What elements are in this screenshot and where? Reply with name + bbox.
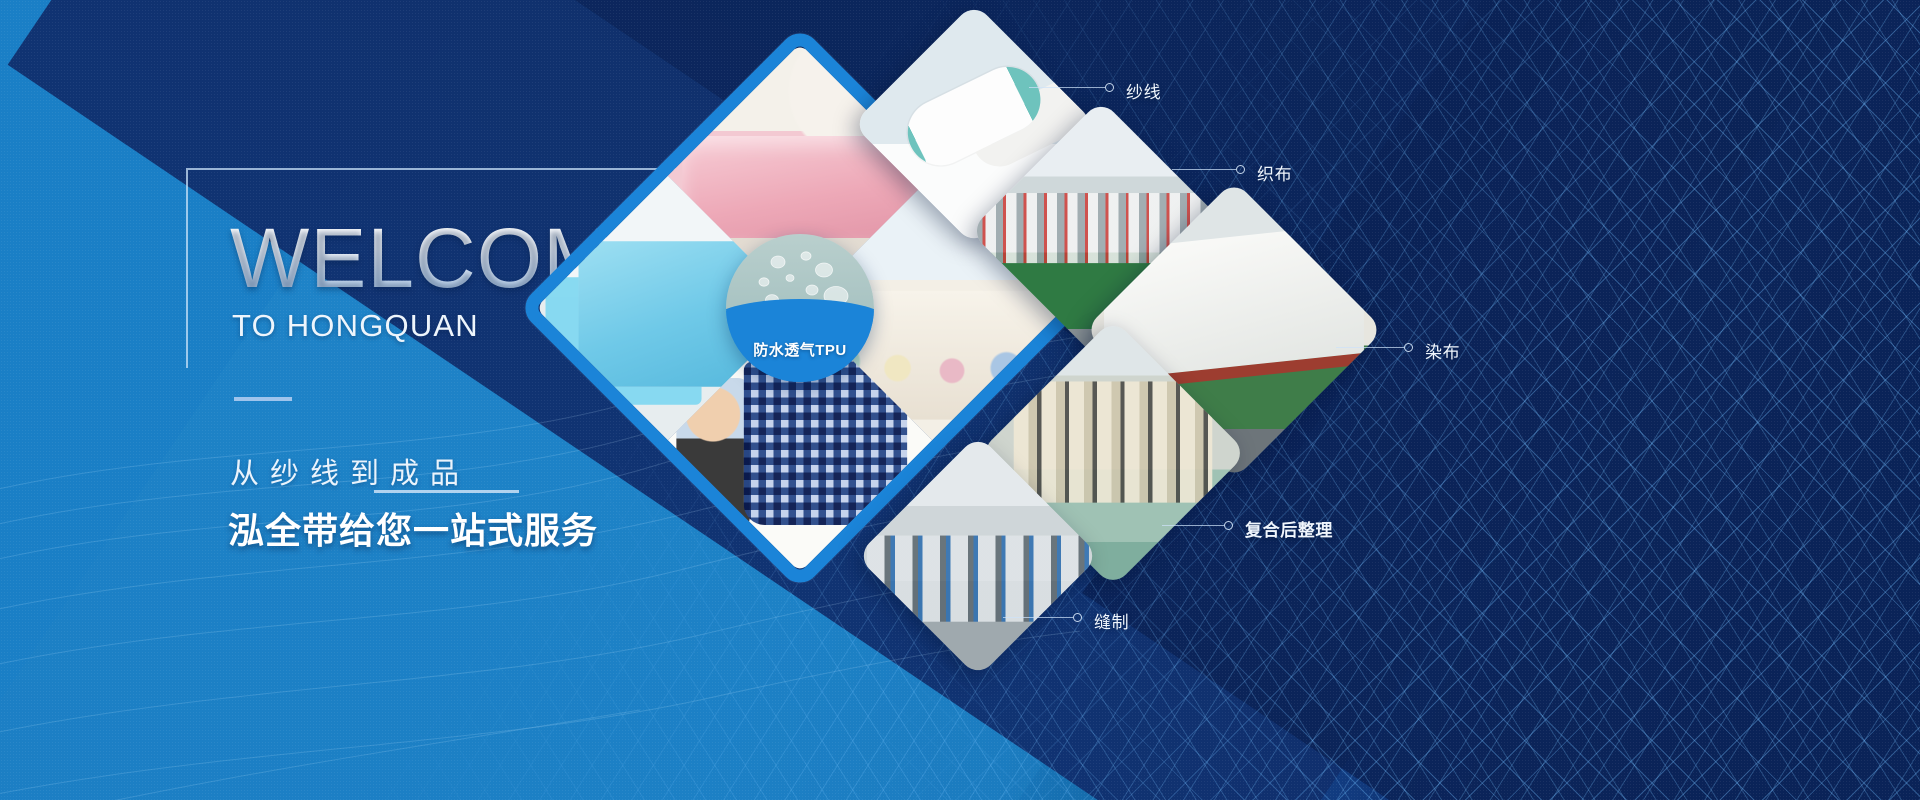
tagline-secondary: 泓全带给您一站式服务: [228, 502, 598, 554]
divider-long: [374, 490, 519, 493]
leader-marker-yarn: [1105, 83, 1114, 92]
leader-line-dyeing: [1336, 347, 1404, 348]
process-label-weaving: 织布: [1257, 160, 1292, 185]
leader-line-laminating: [1162, 525, 1224, 526]
leader-marker-weaving: [1236, 165, 1245, 174]
tagline-primary: 从纱线到成品: [230, 450, 470, 492]
leader-line-weaving: [1172, 169, 1236, 170]
center-badge: 防水透气TPU: [726, 234, 874, 382]
process-label-laminating: 复合后整理: [1245, 516, 1333, 541]
center-badge-label: 防水透气TPU: [726, 339, 874, 360]
page-subtitle: TO HONGQUAN: [232, 308, 479, 344]
process-label-yarn: 纱线: [1126, 78, 1161, 103]
leader-marker-sewing: [1073, 613, 1082, 622]
hero-banner: WELCOME TO HONGQUAN 从纱线到成品 泓全带给您一站式服务: [0, 0, 1920, 800]
leader-marker-dyeing: [1404, 343, 1413, 352]
leader-line-yarn: [1029, 87, 1105, 88]
process-label-sewing: 缝制: [1094, 608, 1129, 633]
process-label-dyeing: 染布: [1425, 338, 1460, 363]
leader-line-sewing: [1003, 617, 1073, 618]
divider-short: [234, 397, 292, 401]
leader-marker-laminating: [1224, 521, 1233, 530]
